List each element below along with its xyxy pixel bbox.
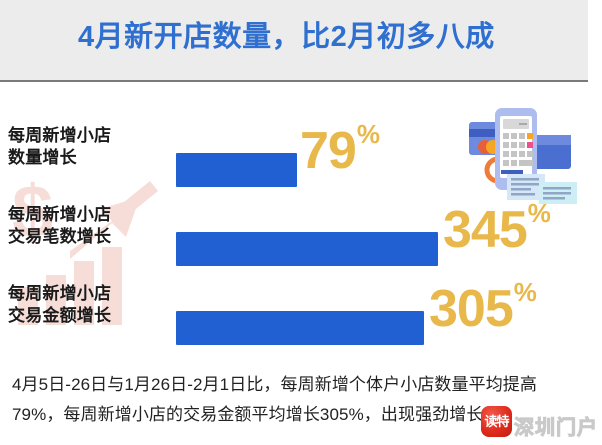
bar-value-2-number: 305 xyxy=(429,280,513,338)
bar-value-2-percent: % xyxy=(514,277,537,307)
bar-value-0-percent: % xyxy=(357,119,380,149)
bar-0 xyxy=(176,153,297,187)
caption-line-1: 4月5日-26日与1月26日-2月1日比，每周新增个体户小店数量平均提高 xyxy=(12,370,592,400)
bar-track-0 xyxy=(176,153,297,187)
bar-track-2 xyxy=(176,311,424,345)
row-label-2-line2: 交易金额增长 xyxy=(8,305,168,327)
row-label-2-line1: 每周新增小店 xyxy=(8,284,111,303)
bar-track-1 xyxy=(176,232,438,266)
chart-row: 每周新增小店 交易金额增长 305% xyxy=(0,275,602,361)
bar-value-1-number: 345 xyxy=(443,201,527,259)
chart-row: 每周新增小店 交易笔数增长 345% xyxy=(0,196,602,282)
row-label-2: 每周新增小店 交易金额增长 xyxy=(8,283,168,327)
bar-1 xyxy=(176,232,438,266)
bar-value-2: 305% xyxy=(429,283,536,335)
bar-2 xyxy=(176,311,424,345)
row-label-1-line2: 交易笔数增长 xyxy=(8,226,168,248)
row-label-1-line1: 每周新增小店 xyxy=(8,205,111,224)
bar-chart: 每周新增小店 数量增长 79% 每周新增小店 交易笔数增长 345% xyxy=(0,82,602,364)
bar-value-1: 345% xyxy=(443,204,550,256)
row-label-0: 每周新增小店 数量增长 xyxy=(8,125,168,169)
row-label-0-line1: 每周新增小店 xyxy=(8,126,111,145)
bar-value-1-percent: % xyxy=(528,198,551,228)
bar-value-0-number: 79 xyxy=(300,122,356,180)
bar-value-0: 79% xyxy=(300,125,379,177)
row-label-0-line2: 数量增长 xyxy=(8,147,168,169)
row-label-1: 每周新增小店 交易笔数增长 xyxy=(8,204,168,248)
chart-row: 每周新增小店 数量增长 79% xyxy=(0,117,602,203)
infographic-page: 4月新开店数量，比2月初多八成 $ xyxy=(0,0,602,445)
caption-line-2: 79%，每周新增小店的交易金额平均增长305%，出现强劲增长 xyxy=(12,400,592,430)
page-title: 4月新开店数量，比2月初多八成 xyxy=(78,17,548,57)
caption: 4月5日-26日与1月26日-2月1日比，每周新增个体户小店数量平均提高 79%… xyxy=(12,370,592,430)
